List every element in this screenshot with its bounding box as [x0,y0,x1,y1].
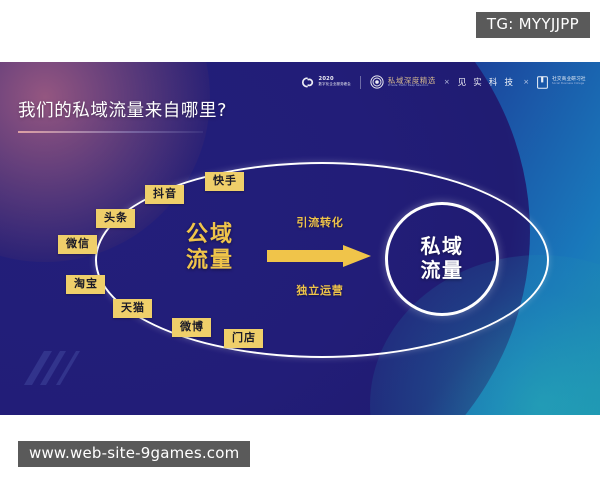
traffic-source-badge: 抖音 [145,185,184,204]
traffic-source-badge: 微博 [172,318,211,337]
traffic-source-badge: 淘宝 [66,275,105,294]
private-traffic-label-line-1: 私域 [421,235,464,259]
telegram-watermark: TG: MYYJJPP [476,12,590,38]
traffic-source-badge: 天猫 [113,299,152,318]
right-arrow-icon [267,245,371,267]
traffic-source-badge: 快手 [205,172,244,191]
private-traffic-label-line-2: 流量 [421,259,464,283]
arrow-caption-top: 引流转化 [265,214,375,230]
arrow-caption-bottom: 独立运营 [265,282,375,298]
public-traffic-label-line-2: 流量 [186,248,234,274]
site-watermark: www.web-site-9games.com [18,441,250,467]
presentation-slide: 2020 数字化企业服务峰会 私域深度精选 Private Traffic De… [0,62,600,415]
conversion-arrow-group: 引流转化 独立运营 [265,214,375,298]
public-traffic-label: 公域 流量 [186,222,234,274]
public-traffic-label-line-1: 公域 [186,222,234,248]
private-traffic-circle: 私域 流量 [385,202,499,316]
traffic-source-badge: 微信 [58,235,97,254]
traffic-source-badge: 门店 [224,329,263,348]
traffic-flow-diagram: 公域 流量 引流转化 独立运营 私域 流量 快手抖音头条微信淘宝天猫微博门店 [0,62,600,415]
traffic-source-badge: 头条 [96,209,135,228]
